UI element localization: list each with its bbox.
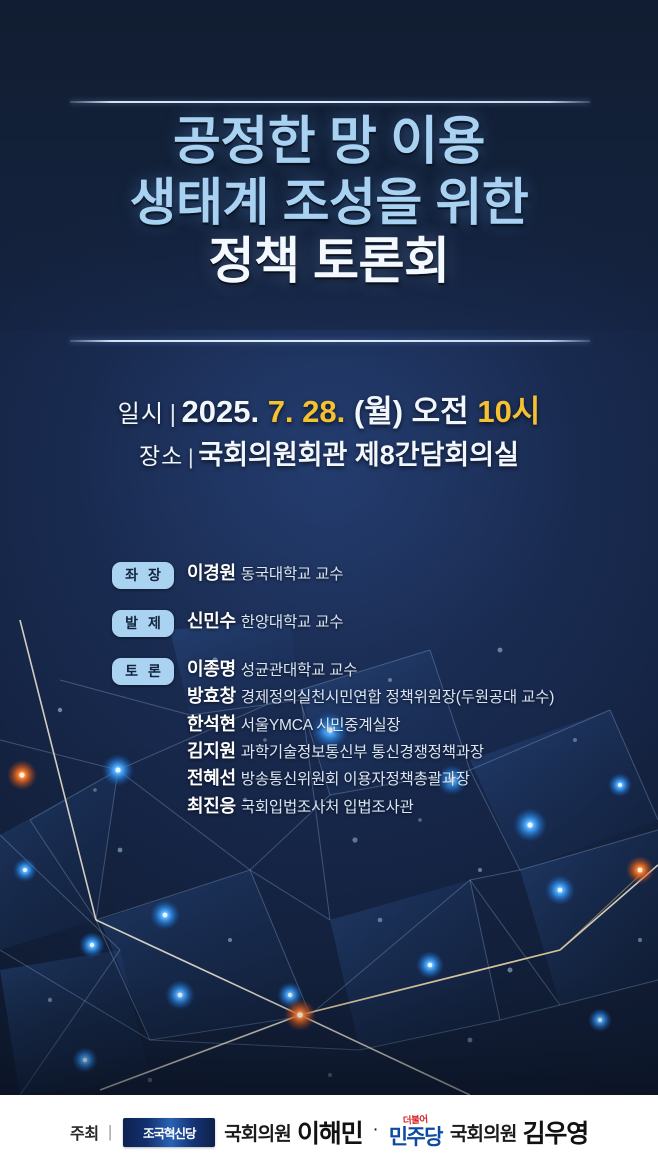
person-name: 이경원 <box>187 563 236 583</box>
title-line-2: 생태계 조성을 위한 <box>0 173 658 233</box>
person-affiliation: 성균관대학교 교수 <box>241 662 358 679</box>
person-name: 김지원 <box>187 741 236 761</box>
list-item: 이종명성균관대학교 교수 <box>187 656 554 683</box>
minjoodang-logo-top-text: 더불어 <box>403 1115 428 1126</box>
person-affiliation: 과학기술정보통신부 통신경쟁정책과장 <box>241 744 484 761</box>
program-row-chair: 좌 장 이경원동국대학교 교수 <box>112 560 618 589</box>
list-item: 이경원동국대학교 교수 <box>187 560 343 587</box>
list-item: 신민수한양대학교 교수 <box>187 608 343 635</box>
minjoodang-logo: 더불어 민주당 <box>389 1116 442 1148</box>
person-name: 이종명 <box>187 659 236 679</box>
person-affiliation: 경제정의실천시민연합 정책위원장(두원공대 교수) <box>241 689 554 706</box>
program-row-discussion: 토 론 이종명성균관대학교 교수 방효창경제정의실천시민연합 정책위원장(두원공… <box>112 656 618 820</box>
list-item: 전혜선방송통신위원회 이용자정책총괄과장 <box>187 765 554 792</box>
datetime-separator: | <box>164 401 181 428</box>
host-label: 주최 <box>70 1120 99 1144</box>
poster-content: 공정한 망 이용 생태계 조성을 위한 정책 토론회 일시|2025. 7. 2… <box>0 0 658 1169</box>
person-affiliation: 국회입법조사처 입법조사관 <box>241 799 414 816</box>
title-line-1: 공정한 망 이용 <box>0 112 658 173</box>
jogukhyeoksindang-logo-text: 조국혁신당 <box>143 1123 196 1142</box>
poster-title: 공정한 망 이용 생태계 조성을 위한 정책 토론회 <box>0 112 658 291</box>
list-item: 방효창경제정의실천시민연합 정책위원장(두원공대 교수) <box>187 683 554 710</box>
divider-bottom <box>70 340 590 342</box>
title-line-3: 정책 토론회 <box>0 232 658 291</box>
person-affiliation: 한양대학교 교수 <box>241 614 344 631</box>
list-item: 한석현서울YMCA 시민중계실장 <box>187 711 554 738</box>
jogukhyeoksindang-logo: 조국혁신당 <box>123 1118 215 1147</box>
list-item: 김지원과학기술정보통신부 통신경쟁정책과장 <box>187 738 554 765</box>
footer-hosts: 주최 | 조국혁신당 국회의원 이해민 · 더불어 민주당 국회의원 김우영 <box>70 1114 588 1150</box>
host-middot: · <box>372 1119 378 1141</box>
poster-footer: 주최 | 조국혁신당 국회의원 이해민 · 더불어 민주당 국회의원 김우영 <box>0 1095 658 1169</box>
org2-title: 국회의원 <box>450 1119 517 1146</box>
event-datetime-row: 일시|2025. 7. 28. (월) 오전 10시 <box>0 392 658 433</box>
place-separator: | <box>183 444 198 469</box>
person-name: 전혜선 <box>187 768 236 788</box>
host-separator: | <box>108 1122 112 1142</box>
place-label: 장소 <box>139 443 183 469</box>
role-badge-chair: 좌 장 <box>112 562 174 589</box>
org1-title: 국회의원 <box>224 1119 291 1146</box>
org1-member-name: 이해민 <box>297 1114 362 1150</box>
program-entries-discussion: 이종명성균관대학교 교수 방효창경제정의실천시민연합 정책위원장(두원공대 교수… <box>187 656 554 820</box>
role-badge-discussion: 토 론 <box>112 658 174 685</box>
place-value: 국회의원회관 제8간담회의실 <box>198 440 519 470</box>
divider-top <box>70 101 590 103</box>
program-row-presenter: 발 제 신민수한양대학교 교수 <box>112 608 618 637</box>
event-details: 일시|2025. 7. 28. (월) 오전 10시 장소|국회의원회관 제8간… <box>0 392 658 474</box>
role-badge-presenter: 발 제 <box>112 610 174 637</box>
datetime-label: 일시 <box>118 401 164 428</box>
datetime-year: 2025. <box>181 394 259 429</box>
program-entries-presenter: 신민수한양대학교 교수 <box>187 608 343 635</box>
person-affiliation: 동국대학교 교수 <box>241 566 344 583</box>
datetime-weekday-ampm: (월) 오전 <box>354 394 469 429</box>
event-place-row: 장소|국회의원회관 제8간담회의실 <box>0 436 658 474</box>
event-poster: 공정한 망 이용 생태계 조성을 위한 정책 토론회 일시|2025. 7. 2… <box>0 0 658 1169</box>
list-item: 최진응국회입법조사처 입법조사관 <box>187 793 554 820</box>
org2-member-name: 김우영 <box>523 1114 588 1150</box>
datetime-hour: 10시 <box>477 394 540 429</box>
program-list: 좌 장 이경원동국대학교 교수 발 제 신민수한양대학교 교수 토 론 이종명성… <box>112 560 618 820</box>
person-affiliation: 방송통신위원회 이용자정책총괄과장 <box>241 771 470 788</box>
person-name: 방효창 <box>187 686 236 706</box>
person-name: 신민수 <box>187 611 236 631</box>
datetime-monthday: 7. 28. <box>268 394 346 429</box>
person-name: 한석현 <box>187 714 236 734</box>
person-name: 최진응 <box>187 796 236 816</box>
minjoodang-logo-main-text: 민주당 <box>389 1127 442 1148</box>
person-affiliation: 서울YMCA 시민중계실장 <box>241 717 401 734</box>
program-entries-chair: 이경원동국대학교 교수 <box>187 560 343 587</box>
